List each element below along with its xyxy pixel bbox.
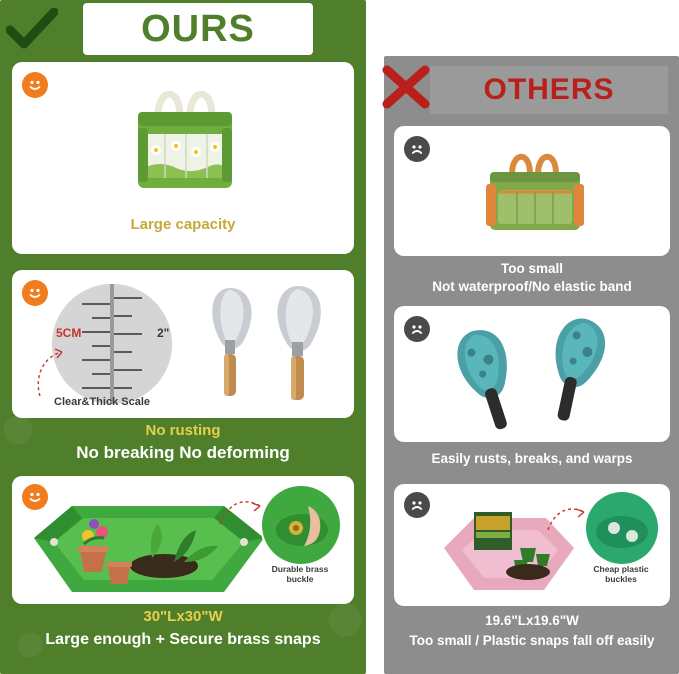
dotted-arrow-icon [546,504,588,534]
dotted-arrow-icon [34,342,68,400]
others-trowels-caption: Easily rusts, breaks, and warps [394,450,670,468]
ours-mat-caption: Large enough + Secure brass snaps [12,630,354,650]
ours-card-scale: 5CM 2" Clear&Thick Scale [12,270,354,418]
others-trowels-image [448,318,628,432]
cheap-plastic-buckles-label: Cheap plastic buckles [580,564,662,584]
others-mat-size-caption: 19.6"Lx19.6"W [394,612,670,630]
others-bag-caption: Too small Not waterproof/No elastic band [394,260,670,295]
ours-title-label: OURS [141,10,255,48]
ours-no-breaking-caption: No breaking No deforming [12,442,354,463]
happy-face-icon [22,72,48,98]
plastic-buckle-inset [584,490,660,566]
ours-bag-caption: Large capacity [12,216,354,233]
others-card-trowels [394,306,670,442]
check-mark-icon [6,8,58,52]
x-mark-icon [381,64,431,110]
scale-tick-2in: 2" [157,326,169,340]
comparison-infographic: OURS [0,0,679,674]
sad-face-icon [404,136,430,162]
ours-trowels-image [208,280,348,408]
sad-face-icon [404,492,430,518]
sad-face-icon [404,316,430,342]
others-bag-caption-line1: Too small [394,260,670,278]
scale-tick-5cm: 5CM [56,326,81,340]
others-card-mat: Cheap plastic buckles [394,484,670,606]
others-trowels-caption-line1: Easily rusts, breaks, and warps [394,450,670,468]
ruler-zoom-circle [52,284,172,404]
others-mat-caption: Too small / Plastic snaps fall off easil… [394,632,670,650]
ours-mat-size-caption: 30"Lx30"W [12,608,354,625]
dotted-arrow-icon [218,496,264,528]
ours-card-mat: Durable brass buckle [12,476,354,604]
clear-thick-scale-label: Clear&Thick Scale [54,396,150,408]
ours-card-bag: Large capacity [12,62,354,254]
ours-title-banner: OURS [83,3,313,55]
others-title-banner: OTHERS [430,66,668,114]
brass-buckle-inset [260,484,342,566]
ours-bag-image [120,76,250,204]
others-bag-image [472,140,598,244]
durable-brass-buckle-label: Durable brass buckle [258,564,342,584]
happy-face-icon [22,280,48,306]
others-title-label: OTHERS [483,73,614,107]
others-card-bag [394,126,670,256]
others-bag-caption-line2: Not waterproof/No elastic band [394,278,670,296]
ours-no-rusting-caption: No rusting [12,422,354,439]
